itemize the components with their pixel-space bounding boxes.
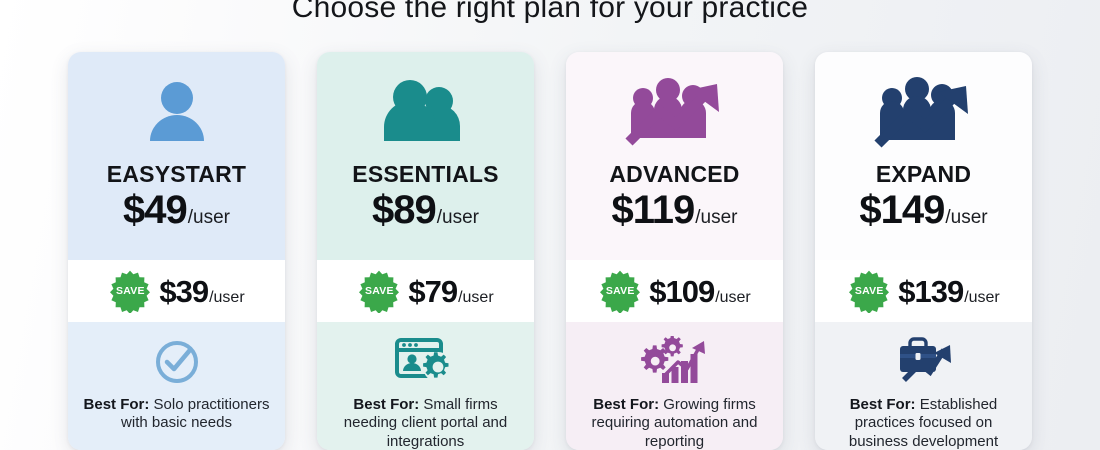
plan-save-price-unit: /user <box>209 290 245 306</box>
save-band: SAVE $79 /user <box>317 260 534 322</box>
plan-save-price-value: $109 <box>649 276 714 307</box>
save-badge: SAVE <box>357 269 401 313</box>
plan-save-price: $139 /user <box>898 276 1000 307</box>
plan-price-value: $119 <box>611 190 694 230</box>
plan-bestfor-label: Best For: <box>850 396 920 413</box>
plan-bestfor-text: Best For: Solo practitioners with basic … <box>77 396 277 433</box>
page-title: Choose the right plan for your practice <box>0 0 1100 25</box>
plan-card-easystart[interactable]: EASYSTART $49 /user SAVE $39 /user <box>68 52 285 450</box>
plan-name: EASYSTART <box>107 162 246 187</box>
plan-save-price: $39 /user <box>159 276 244 307</box>
plan-card-advanced[interactable]: ADVANCED $119 /user SAVE $109 /user <box>566 52 783 450</box>
plan-name: ADVANCED <box>609 162 739 187</box>
plan-price-unit: /user <box>188 208 230 227</box>
plan-price-unit: /user <box>437 208 479 227</box>
plan-name: ESSENTIALS <box>352 162 498 187</box>
save-badge-label: SAVE <box>365 285 394 297</box>
save-badge-label: SAVE <box>855 285 884 297</box>
plan-price: $49 /user <box>123 190 230 230</box>
plan-save-price-value: $139 <box>898 276 963 307</box>
plan-save-price-value: $39 <box>159 276 208 307</box>
plan-price: $89 /user <box>372 190 479 230</box>
plan-bestfor-easystart: Best For: Solo practitioners with basic … <box>68 322 285 450</box>
plan-price-value: $89 <box>372 190 436 230</box>
plan-header-advanced: ADVANCED $119 /user <box>566 52 783 260</box>
plan-save-price-unit: /user <box>964 290 1000 306</box>
plan-save-price-unit: /user <box>715 290 751 306</box>
save-band: SAVE $39 /user <box>68 260 285 322</box>
plan-price-value: $149 <box>859 190 944 230</box>
plan-header-essentials: ESSENTIALS $89 /user <box>317 52 534 260</box>
plan-header-expand: EXPAND $149 /user <box>815 52 1032 260</box>
save-band: SAVE $109 /user <box>566 260 783 322</box>
single-person-icon <box>140 66 214 158</box>
save-band: SAVE $139 /user <box>815 260 1032 322</box>
save-badge: SAVE <box>108 269 152 313</box>
browser-gear-icon <box>395 334 457 390</box>
plan-bestfor-essentials: Best For: Small firms needing client por… <box>317 322 534 450</box>
check-circle-icon <box>152 334 202 390</box>
plan-price: $119 /user <box>611 190 737 230</box>
pricing-plans-row: EASYSTART $49 /user SAVE $39 /user <box>68 52 1032 450</box>
plan-card-expand[interactable]: EXPAND $149 /user SAVE $139 /user <box>815 52 1032 450</box>
plan-bestfor-label: Best For: <box>353 396 423 413</box>
plan-header-easystart: EASYSTART $49 /user <box>68 52 285 260</box>
plan-bestfor-text: Best For: Established practices focused … <box>824 396 1024 450</box>
plan-save-price-value: $79 <box>408 276 457 307</box>
plan-bestfor-label: Best For: <box>593 396 663 413</box>
plan-bestfor-text: Best For: Growing firms requiring automa… <box>575 396 775 450</box>
plan-card-essentials[interactable]: ESSENTIALS $89 /user SAVE $79 /user <box>317 52 534 450</box>
two-people-icon <box>378 66 474 158</box>
gears-barchart-arrow-icon <box>640 334 710 390</box>
people-chart-arrow-icon <box>870 66 978 158</box>
plan-save-price: $79 /user <box>408 276 493 307</box>
save-badge-label: SAVE <box>116 285 145 297</box>
save-badge: SAVE <box>847 269 891 313</box>
save-badge: SAVE <box>598 269 642 313</box>
plan-price: $149 /user <box>859 190 987 230</box>
briefcase-arrow-icon <box>892 334 956 390</box>
save-badge-label: SAVE <box>606 285 635 297</box>
plan-price-unit: /user <box>695 208 737 227</box>
plan-bestfor-text: Best For: Small firms needing client por… <box>326 396 526 450</box>
plan-bestfor-advanced: Best For: Growing firms requiring automa… <box>566 322 783 450</box>
plan-bestfor-label: Best For: <box>84 396 154 413</box>
plan-save-price-unit: /user <box>458 290 494 306</box>
plan-name: EXPAND <box>876 162 971 187</box>
people-growth-arrow-icon <box>621 66 729 158</box>
plan-save-price: $109 /user <box>649 276 751 307</box>
plan-bestfor-expand: Best For: Established practices focused … <box>815 322 1032 450</box>
plan-price-unit: /user <box>945 208 987 227</box>
plan-price-value: $49 <box>123 190 187 230</box>
